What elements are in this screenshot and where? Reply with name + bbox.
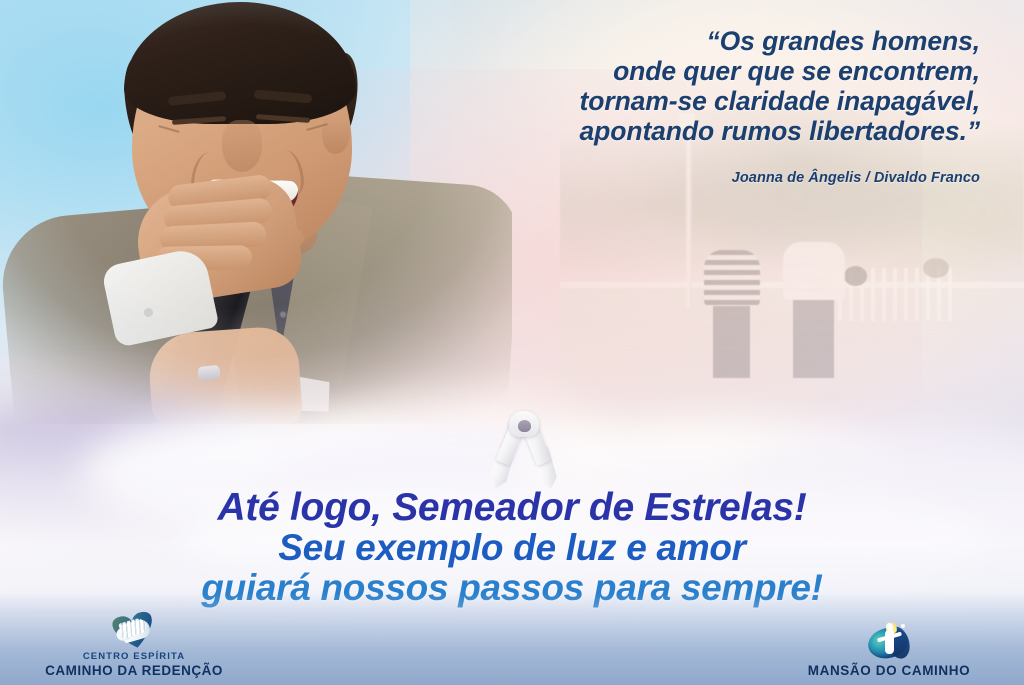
hand-holding-microphone: [147, 325, 304, 435]
logo-left-main-label: CAMINHO DA REDENÇÃO: [14, 663, 254, 679]
cuff-button: [144, 308, 153, 317]
logo-mansao-do-caminho[interactable]: MANSÃO DO CAMINHO: [764, 622, 1014, 679]
headline-line-1: Até logo, Semeador de Estrelas!: [0, 487, 1024, 528]
heart-hands-icon: [108, 614, 160, 648]
nose: [222, 120, 262, 172]
ribbon-loop-opening: [518, 420, 531, 432]
portrait-photo: [0, 0, 512, 424]
globe-figure-icon: [865, 622, 913, 660]
memorial-poster: “Os grandes homens, onde quer que se enc…: [0, 0, 1024, 685]
headline-line-2: Seu exemplo de luz e amor: [0, 528, 1024, 568]
quote-text: “Os grandes homens, onde quer que se enc…: [440, 26, 980, 146]
quote-attribution: Joanna de Ângelis / Divaldo Franco: [440, 170, 980, 186]
quote-line-4: apontando rumos libertadores.”: [440, 116, 980, 146]
logo-centro-espirita[interactable]: CENTRO ESPÍRITA CAMINHO DA REDENÇÃO: [14, 614, 254, 679]
ring: [197, 365, 220, 381]
white-ribbon-icon: [487, 411, 561, 489]
quote-line-2: onde quer que se encontrem,: [440, 56, 980, 86]
background-lamppost: [685, 123, 692, 308]
ear: [322, 112, 350, 154]
headline: Até logo, Semeador de Estrelas! Seu exem…: [0, 487, 1024, 608]
logo-right-main-label: MANSÃO DO CAMINHO: [764, 663, 1014, 679]
background-scene-photo: [560, 110, 1024, 440]
quote-line-1: “Os grandes homens,: [440, 26, 980, 56]
logo-left-sub-label: CENTRO ESPÍRITA: [14, 651, 254, 663]
hair: [124, 2, 356, 124]
background-figure-striped-shirt: [704, 250, 760, 400]
background-figure-white-shirt: [783, 242, 845, 400]
quote-line-3: tornam-se claridade inapagável,: [440, 86, 980, 116]
